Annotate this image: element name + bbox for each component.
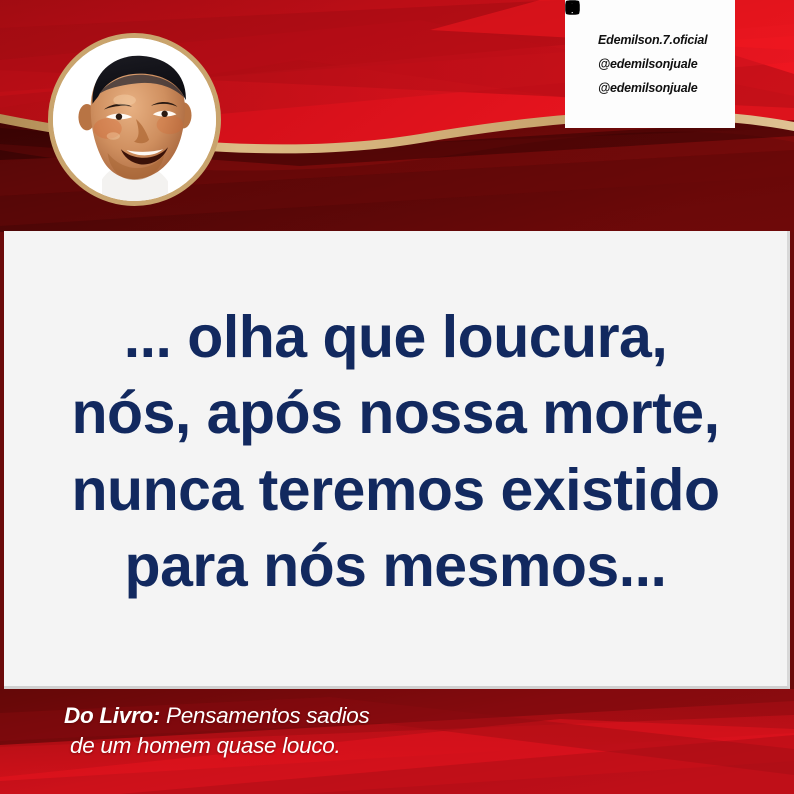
avatar-face-illustration (53, 38, 216, 201)
twitter-icon (577, 81, 592, 96)
book-credit-label: Do Livro: (64, 703, 160, 728)
quote-text: ... olha que loucura, nós, após nossa mo… (4, 299, 787, 617)
facebook-handle: Edemilson.7.oficial (598, 33, 707, 47)
social-row-twitter[interactable]: @edemilsonjuale (577, 78, 735, 98)
quote-panel: ... olha que loucura, nós, após nossa mo… (4, 231, 790, 689)
quote-line-3: nunca teremos existido (12, 452, 779, 528)
social-row-facebook[interactable]: Edemilson.7.oficial (577, 30, 735, 50)
twitter-handle: @edemilsonjuale (598, 81, 698, 95)
quote-line-2: nós, após nossa morte, (12, 375, 779, 451)
instagram-handle: @edemilsonjuale (598, 57, 698, 71)
quote-line-4: para nós mesmos... (12, 528, 779, 604)
author-caricature-avatar (48, 33, 221, 206)
header-banner: Edemilson.7.oficial @edemilsonjuale (0, 0, 794, 232)
social-handles-card: Edemilson.7.oficial @edemilsonjuale (565, 0, 735, 128)
quote-line-1: ... olha que loucura, (12, 299, 779, 375)
footer-banner: Do Livro: Pensamentos sadios de um homem… (0, 689, 794, 794)
instagram-icon (577, 57, 592, 72)
quote-graphic-card: Edemilson.7.oficial @edemilsonjuale (0, 0, 794, 794)
book-credit: Do Livro: Pensamentos sadios de um homem… (64, 701, 369, 760)
facebook-icon (577, 33, 592, 48)
book-title-line2: de um homem quase louco. (70, 731, 369, 761)
social-row-instagram[interactable]: @edemilsonjuale (577, 54, 735, 74)
book-title-line1: Pensamentos sadios (166, 703, 369, 728)
